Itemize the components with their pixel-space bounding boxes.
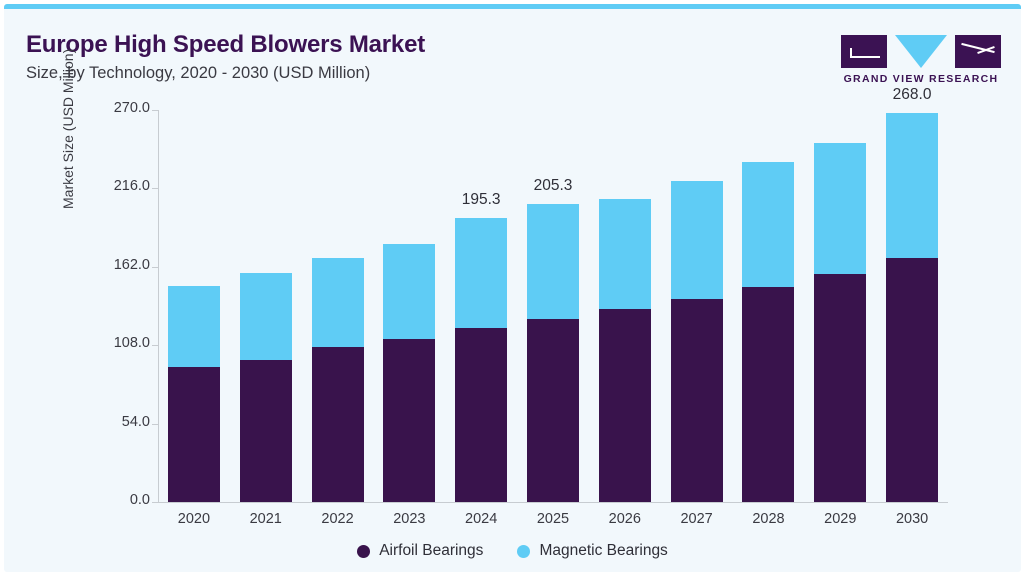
- y-tick-label: 270.0: [70, 100, 150, 116]
- bar-segment-airfoil-bearings[interactable]: [455, 328, 507, 502]
- y-tick-mark: [152, 110, 158, 111]
- bar-value-label: 205.3: [498, 177, 608, 195]
- legend-item[interactable]: Airfoil Bearings: [357, 542, 483, 560]
- bar-column[interactable]: [240, 273, 292, 502]
- bar-column[interactable]: [599, 199, 651, 502]
- bar-segment-magnetic-bearings[interactable]: [168, 286, 220, 367]
- bar-segment-airfoil-bearings[interactable]: [240, 360, 292, 502]
- bar-segment-airfoil-bearings[interactable]: [383, 339, 435, 502]
- chart-card: Europe High Speed Blowers Market Size, b…: [4, 4, 1021, 572]
- bar-series-container: [158, 110, 948, 502]
- bar-segment-airfoil-bearings[interactable]: [312, 347, 364, 502]
- bar-column[interactable]: [527, 204, 579, 502]
- bar-value-label: 268.0: [857, 86, 967, 104]
- x-tick-label: 2030: [867, 511, 957, 527]
- y-tick-mark: [152, 345, 158, 346]
- bar-segment-magnetic-bearings[interactable]: [240, 273, 292, 361]
- bar-segment-airfoil-bearings[interactable]: [168, 367, 220, 502]
- legend-dot-icon: [357, 545, 370, 558]
- bar-column[interactable]: [886, 113, 938, 502]
- bar-segment-magnetic-bearings[interactable]: [455, 218, 507, 327]
- x-axis-line: [158, 502, 948, 503]
- bar-segment-airfoil-bearings[interactable]: [599, 309, 651, 502]
- bar-column[interactable]: [671, 181, 723, 502]
- bar-segment-airfoil-bearings[interactable]: [742, 287, 794, 502]
- bar-segment-airfoil-bearings[interactable]: [671, 299, 723, 502]
- bar-segment-airfoil-bearings[interactable]: [527, 319, 579, 502]
- y-tick-mark: [152, 424, 158, 425]
- bar-column[interactable]: [742, 162, 794, 502]
- legend-dot-icon: [517, 545, 530, 558]
- bar-segment-magnetic-bearings[interactable]: [814, 143, 866, 274]
- y-tick-label: 0.0: [70, 492, 150, 508]
- bar-segment-magnetic-bearings[interactable]: [383, 244, 435, 339]
- legend-label: Magnetic Bearings: [539, 542, 667, 560]
- chart-legend: Airfoil BearingsMagnetic Bearings: [4, 542, 1021, 560]
- bar-segment-magnetic-bearings[interactable]: [742, 162, 794, 287]
- y-axis-ticks: 0.054.0108.0162.0216.0270.0: [70, 9, 150, 577]
- y-tick-label: 54.0: [70, 414, 150, 430]
- y-tick-mark: [152, 188, 158, 189]
- y-tick-label: 108.0: [70, 335, 150, 351]
- legend-label: Airfoil Bearings: [379, 542, 483, 560]
- bar-column[interactable]: [814, 143, 866, 502]
- bar-column[interactable]: [168, 286, 220, 502]
- bar-segment-magnetic-bearings[interactable]: [886, 113, 938, 258]
- bar-segment-airfoil-bearings[interactable]: [814, 274, 866, 502]
- bar-segment-magnetic-bearings[interactable]: [312, 258, 364, 347]
- chart-plot-area: Market Size (USD Million) 0.054.0108.016…: [4, 9, 1021, 577]
- bar-segment-magnetic-bearings[interactable]: [671, 181, 723, 299]
- legend-item[interactable]: Magnetic Bearings: [517, 542, 667, 560]
- bar-column[interactable]: [312, 258, 364, 502]
- bar-column[interactable]: [383, 244, 435, 502]
- bar-segment-magnetic-bearings[interactable]: [527, 204, 579, 319]
- y-tick-mark: [152, 267, 158, 268]
- bar-segment-magnetic-bearings[interactable]: [599, 199, 651, 309]
- y-tick-label: 216.0: [70, 178, 150, 194]
- bar-column[interactable]: [455, 218, 507, 502]
- y-tick-mark: [152, 502, 158, 503]
- y-tick-label: 162.0: [70, 257, 150, 273]
- bar-segment-airfoil-bearings[interactable]: [886, 258, 938, 502]
